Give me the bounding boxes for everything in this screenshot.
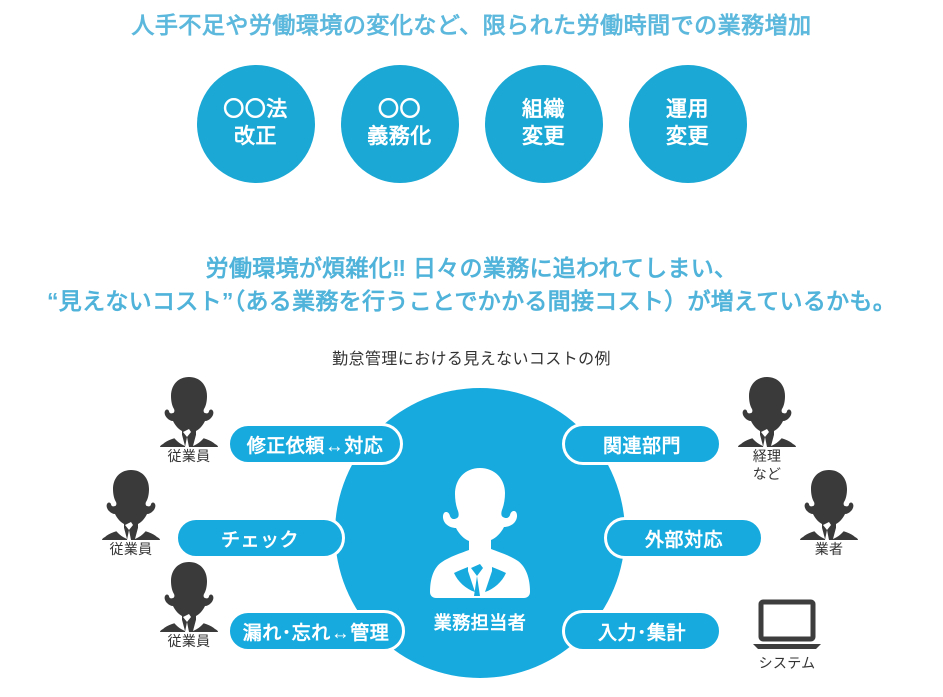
actor-label: 業者: [784, 541, 874, 558]
actor-label: 従業員: [86, 541, 176, 558]
pill-external-response: 外部対応: [604, 517, 764, 559]
person-icon: [158, 375, 220, 447]
factor-bubble-operation-change: 運用 変更: [629, 65, 747, 183]
page-headline: 人手不足や労働環境の変化など、限られた労働時間での業務増加: [0, 6, 943, 40]
actor-label: システム: [742, 655, 832, 672]
actor-vendor: 業者: [784, 468, 874, 558]
actor-label: 従業員: [144, 633, 234, 650]
actor-employee-2: 従業員: [86, 468, 176, 558]
person-icon: [100, 468, 162, 540]
bubble-line-2: 変更: [666, 124, 709, 151]
factor-bubble-row: 〇〇法 改正 〇〇 義務化 組織 変更 運用 変更: [0, 63, 943, 185]
pill-correction-request: 修正依頼↔対応: [227, 423, 403, 465]
person-icon: [736, 375, 798, 447]
pill-related-department: 関連部門: [562, 423, 722, 465]
subtitle-line-1: 労働環境が煩雑化‼ 日々の業務に追われてしまい、: [0, 252, 943, 285]
pill-check: チェック: [175, 517, 345, 559]
laptop-icon: [750, 598, 824, 654]
hub-circle: [335, 388, 625, 678]
factor-bubble-obligation: 〇〇 義務化: [341, 65, 459, 183]
business-person-icon: [428, 466, 532, 598]
bubble-line-1: 〇〇法: [223, 97, 288, 124]
subtitle-block: 労働環境が煩雑化‼ 日々の業務に追われてしまい、 “見えないコスト”（ある業務を…: [0, 252, 943, 318]
bubble-line-2: 義務化: [367, 124, 432, 151]
bubble-line-1: 組織: [522, 97, 565, 124]
actor-system: システム: [742, 598, 832, 672]
actor-employee-3: 従業員: [144, 560, 234, 650]
factor-bubble-org-change: 組織 変更: [485, 65, 603, 183]
bubble-line-2: 改正: [234, 124, 277, 151]
pill-omission-management: 漏れ･忘れ↔管理: [227, 610, 405, 652]
actor-label-line-1: 経理: [722, 448, 812, 465]
bubble-line-2: 変更: [522, 124, 565, 151]
actor-label-line-2: など: [722, 466, 812, 483]
actor-accounting: 経理 など: [722, 375, 812, 482]
actor-label: 従業員: [144, 448, 234, 465]
factor-bubble-law-revision: 〇〇法 改正: [197, 65, 315, 183]
pill-input-aggregation: 入力･集計: [562, 610, 722, 652]
actor-employee-1: 従業員: [144, 375, 234, 465]
hub-label: 業務担当者: [380, 609, 580, 635]
person-icon: [158, 560, 220, 632]
bubble-line-1: 運用: [666, 97, 709, 124]
person-icon: [798, 468, 860, 540]
diagram-caption: 勤怠管理における見えないコストの例: [0, 345, 943, 369]
bubble-line-1: 〇〇: [378, 97, 421, 124]
subtitle-line-2: “見えないコスト”（ある業務を行うことでかかる間接コスト）が増えているかも。: [0, 285, 943, 318]
